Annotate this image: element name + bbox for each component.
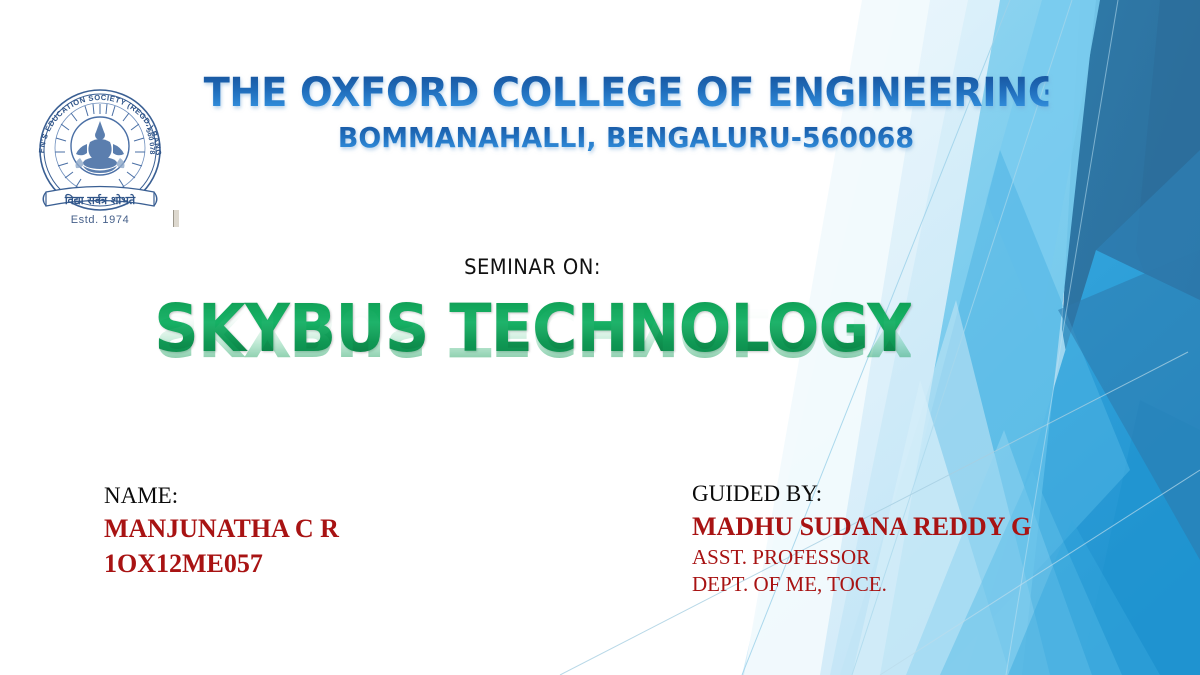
college-name: THE OXFORD COLLEGE OF ENGINEERING <box>204 72 1049 115</box>
seminar-label: SEMINAR ON: <box>37 255 1027 279</box>
college-address: BOMMANAHALLI, BENGALURU-560068 <box>204 121 1049 155</box>
presenter-usn: 1OX12ME057 <box>104 546 339 581</box>
guide-name: MADHU SUDANA REDDY G <box>692 509 1031 544</box>
institution-header: THE OXFORD COLLEGE OF ENGINEERING BOMMAN… <box>186 72 1066 155</box>
seminar-topic-block: SKYBUS TECHNOLOGY SKYBUS TECHNOLOGY <box>0 296 1065 428</box>
guide-department: DEPT. OF ME, TOCE. <box>692 571 1031 598</box>
presentation-slide: CHILDREN'S EDUCATION SOCIETY (REGD.) BAN… <box>0 0 1200 675</box>
guide-block: GUIDED BY: MADHU SUDANA REDDY G ASST. PR… <box>692 479 1031 599</box>
guide-label: GUIDED BY: <box>692 479 1031 509</box>
svg-text:Estd. 1974: Estd. 1974 <box>71 214 130 226</box>
presenter-name: MANJUNATHA C R <box>104 511 339 546</box>
guide-designation: ASST. PROFESSOR <box>692 544 1031 571</box>
college-seal-logo: CHILDREN'S EDUCATION SOCIETY (REGD.) BAN… <box>24 78 176 230</box>
presenter-block: NAME: MANJUNATHA C R 1OX12ME057 <box>104 481 339 581</box>
stray-artifact-mark <box>173 210 179 227</box>
svg-text:विद्या सर्वत्र शोभते: विद्या सर्वत्र शोभते <box>64 193 136 207</box>
seminar-topic-reflection: SKYBUS TECHNOLOGY <box>154 298 911 364</box>
presenter-label: NAME: <box>104 481 339 511</box>
